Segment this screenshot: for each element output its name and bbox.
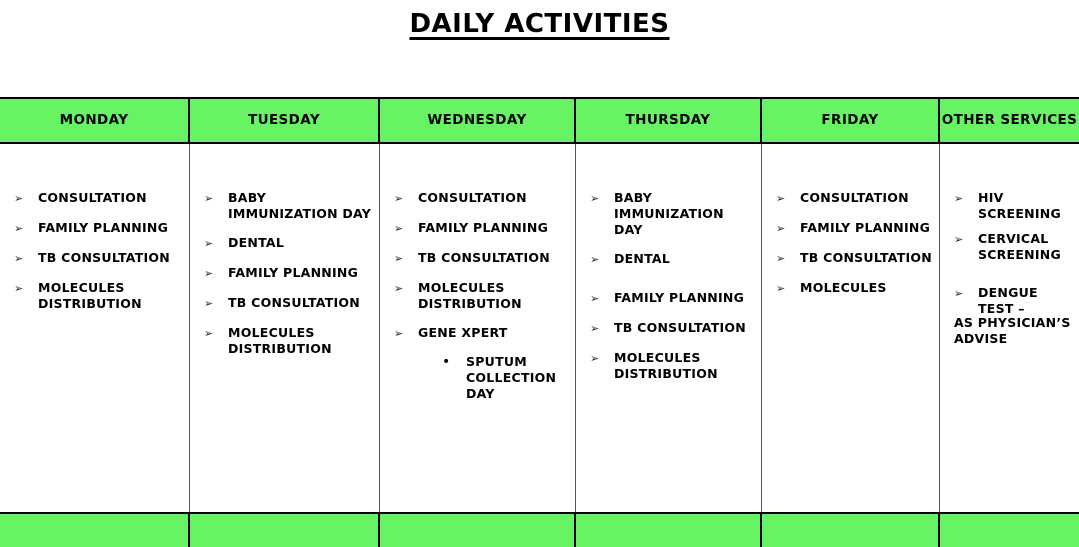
column-body-thursday: ➢ BABY IMMUNIZATION DAY ➢ DENTAL ➢ FAMIL… — [576, 144, 762, 512]
arrow-bullet-icon: ➢ — [14, 280, 38, 297]
arrow-bullet-icon: ➢ — [776, 280, 800, 297]
activity-list-wednesday: ➢ CONSULTATION ➢ FAMILY PLANNING ➢ TB CO… — [394, 190, 569, 402]
list-item: ➢ BABY IMMUNIZATION DAY — [590, 190, 755, 238]
column-body-other-services: ➢ HIV SCREENING ➢ CERVICAL SCREENING ➢ D… — [940, 144, 1079, 512]
activity-list-monday: ➢ CONSULTATION ➢ FAMILY PLANNING ➢ TB CO… — [14, 190, 183, 312]
list-item-label: CONSULTATION — [38, 190, 147, 206]
column-body-friday: ➢ CONSULTATION ➢ FAMILY PLANNING ➢ TB CO… — [762, 144, 940, 512]
list-item-label: BABY IMMUNIZATION DAY — [228, 190, 373, 222]
list-item: ➢ MOLECULES DISTRIBUTION — [14, 280, 183, 312]
list-item: ➢ BABY IMMUNIZATION DAY — [204, 190, 373, 222]
list-item-label: BABY IMMUNIZATION DAY — [614, 190, 755, 238]
table-body-row: ➢ CONSULTATION ➢ FAMILY PLANNING ➢ TB CO… — [0, 144, 1079, 512]
list-item-label: FAMILY PLANNING — [228, 265, 358, 281]
sub-list-item-label: SPUTUM COLLECTION DAY — [466, 354, 569, 402]
list-item-label: HIV SCREENING — [978, 190, 1073, 222]
arrow-bullet-icon: ➢ — [954, 190, 978, 207]
table-header-row: MONDAY TUESDAY WEDNESDAY THURSDAY FRIDAY… — [0, 97, 1079, 144]
column-body-wednesday: ➢ CONSULTATION ➢ FAMILY PLANNING ➢ TB CO… — [380, 144, 576, 512]
column-header-wednesday: WEDNESDAY — [380, 99, 576, 142]
list-item: ➢ FAMILY PLANNING — [14, 220, 183, 237]
arrow-bullet-icon: ➢ — [14, 190, 38, 207]
list-item: ➢ TB CONSULTATION — [776, 250, 933, 267]
activity-list-thursday: ➢ BABY IMMUNIZATION DAY ➢ DENTAL ➢ FAMIL… — [590, 190, 755, 382]
list-item-label: MOLECULES DISTRIBUTION — [38, 280, 183, 312]
list-item: ➢ FAMILY PLANNING — [204, 265, 373, 282]
activity-list-friday: ➢ CONSULTATION ➢ FAMILY PLANNING ➢ TB CO… — [776, 190, 933, 297]
arrow-bullet-icon: ➢ — [776, 190, 800, 207]
sub-list-item: • SPUTUM COLLECTION DAY — [442, 354, 569, 402]
arrow-bullet-icon: ➢ — [394, 190, 418, 207]
list-item-label: DENGUE TEST – — [978, 285, 1073, 317]
arrow-bullet-icon: ➢ — [776, 250, 800, 267]
list-item: ➢ FAMILY PLANNING — [590, 290, 755, 307]
activity-list-tuesday: ➢ BABY IMMUNIZATION DAY ➢ DENTAL ➢ FAMIL… — [204, 190, 373, 357]
activity-list-other-services: ➢ HIV SCREENING ➢ CERVICAL SCREENING ➢ D… — [954, 190, 1073, 347]
footer-cell-tuesday — [190, 514, 380, 547]
column-header-friday: FRIDAY — [762, 99, 940, 142]
column-header-tuesday: TUESDAY — [190, 99, 380, 142]
arrow-bullet-icon: ➢ — [776, 220, 800, 237]
other-services-note: AS PHYSICIAN’S ADVISE — [954, 315, 1073, 347]
footer-cell-other-services — [940, 514, 1079, 547]
list-item: ➢ DENTAL — [590, 251, 755, 268]
list-item-label: TB CONSULTATION — [228, 295, 360, 311]
list-item: ➢ FAMILY PLANNING — [394, 220, 569, 237]
arrow-bullet-icon: ➢ — [590, 350, 614, 367]
arrow-bullet-icon: ➢ — [204, 235, 228, 252]
list-item: ➢ CERVICAL SCREENING — [954, 231, 1073, 263]
list-item: ➢ MOLECULES DISTRIBUTION — [394, 280, 569, 312]
arrow-bullet-icon: ➢ — [394, 250, 418, 267]
arrow-bullet-icon: ➢ — [590, 251, 614, 268]
column-body-monday: ➢ CONSULTATION ➢ FAMILY PLANNING ➢ TB CO… — [0, 144, 190, 512]
list-item: ➢ HIV SCREENING — [954, 190, 1073, 222]
footer-cell-wednesday — [380, 514, 576, 547]
arrow-bullet-icon: ➢ — [394, 325, 418, 342]
list-item: ➢ CONSULTATION — [14, 190, 183, 207]
list-item-label: CONSULTATION — [800, 190, 909, 206]
arrow-bullet-icon: ➢ — [590, 320, 614, 337]
list-item-label: FAMILY PLANNING — [418, 220, 548, 236]
list-item: ➢ DENGUE TEST – — [954, 285, 1073, 317]
list-item-label: TB CONSULTATION — [418, 250, 550, 266]
page-title: DAILY ACTIVITIES — [409, 9, 669, 39]
list-item: ➢ CONSULTATION — [394, 190, 569, 207]
list-item: ➢ TB CONSULTATION — [590, 320, 755, 337]
arrow-bullet-icon: ➢ — [590, 190, 614, 207]
list-item: ➢ FAMILY PLANNING — [776, 220, 933, 237]
column-header-other-services: OTHER SERVICES — [940, 99, 1079, 142]
list-item: ➢ TB CONSULTATION — [394, 250, 569, 267]
list-item-label: TB CONSULTATION — [38, 250, 170, 266]
list-item-label: FAMILY PLANNING — [614, 290, 744, 306]
footer-cell-thursday — [576, 514, 762, 547]
list-item-label: DENTAL — [228, 235, 284, 251]
arrow-bullet-icon: ➢ — [204, 295, 228, 312]
arrow-bullet-icon: ➢ — [590, 290, 614, 307]
list-item-label: MOLECULES DISTRIBUTION — [418, 280, 569, 312]
footer-cell-friday — [762, 514, 940, 547]
arrow-bullet-icon: ➢ — [394, 280, 418, 297]
list-item: ➢ TB CONSULTATION — [14, 250, 183, 267]
daily-activities-table: MONDAY TUESDAY WEDNESDAY THURSDAY FRIDAY… — [0, 97, 1079, 547]
arrow-bullet-icon: ➢ — [954, 285, 978, 302]
arrow-bullet-icon: ➢ — [14, 250, 38, 267]
list-item-label: TB CONSULTATION — [800, 250, 932, 266]
list-item: ➢ MOLECULES — [776, 280, 933, 297]
footer-cell-monday — [0, 514, 190, 547]
list-item: ➢ DENTAL — [204, 235, 373, 252]
list-item-label: DENTAL — [614, 251, 670, 267]
column-header-monday: MONDAY — [0, 99, 190, 142]
table-footer-row — [0, 512, 1079, 547]
list-item-label: TB CONSULTATION — [614, 320, 746, 336]
list-item-label: CERVICAL SCREENING — [978, 231, 1073, 263]
list-item: ➢ TB CONSULTATION — [204, 295, 373, 312]
list-item: ➢ MOLECULES DISTRIBUTION — [204, 325, 373, 357]
list-item: ➢ CONSULTATION — [776, 190, 933, 207]
arrow-bullet-icon: ➢ — [394, 220, 418, 237]
column-header-thursday: THURSDAY — [576, 99, 762, 142]
page-title-bar: DAILY ACTIVITIES — [0, 0, 1079, 97]
arrow-bullet-icon: ➢ — [954, 231, 978, 248]
arrow-bullet-icon: ➢ — [204, 190, 228, 207]
arrow-bullet-icon: ➢ — [204, 265, 228, 282]
arrow-bullet-icon: ➢ — [204, 325, 228, 342]
list-item: ➢ GENE XPERT — [394, 325, 569, 342]
dot-bullet-icon: • — [442, 354, 466, 370]
list-item-label: CONSULTATION — [418, 190, 527, 206]
list-item-label: FAMILY PLANNING — [800, 220, 930, 236]
list-item-label: GENE XPERT — [418, 325, 508, 341]
arrow-bullet-icon: ➢ — [14, 220, 38, 237]
column-body-tuesday: ➢ BABY IMMUNIZATION DAY ➢ DENTAL ➢ FAMIL… — [190, 144, 380, 512]
list-item-label: MOLECULES DISTRIBUTION — [614, 350, 755, 382]
list-item-label: FAMILY PLANNING — [38, 220, 168, 236]
list-item-label: MOLECULES DISTRIBUTION — [228, 325, 373, 357]
list-item: ➢ MOLECULES DISTRIBUTION — [590, 350, 755, 382]
list-item-label: MOLECULES — [800, 280, 887, 296]
